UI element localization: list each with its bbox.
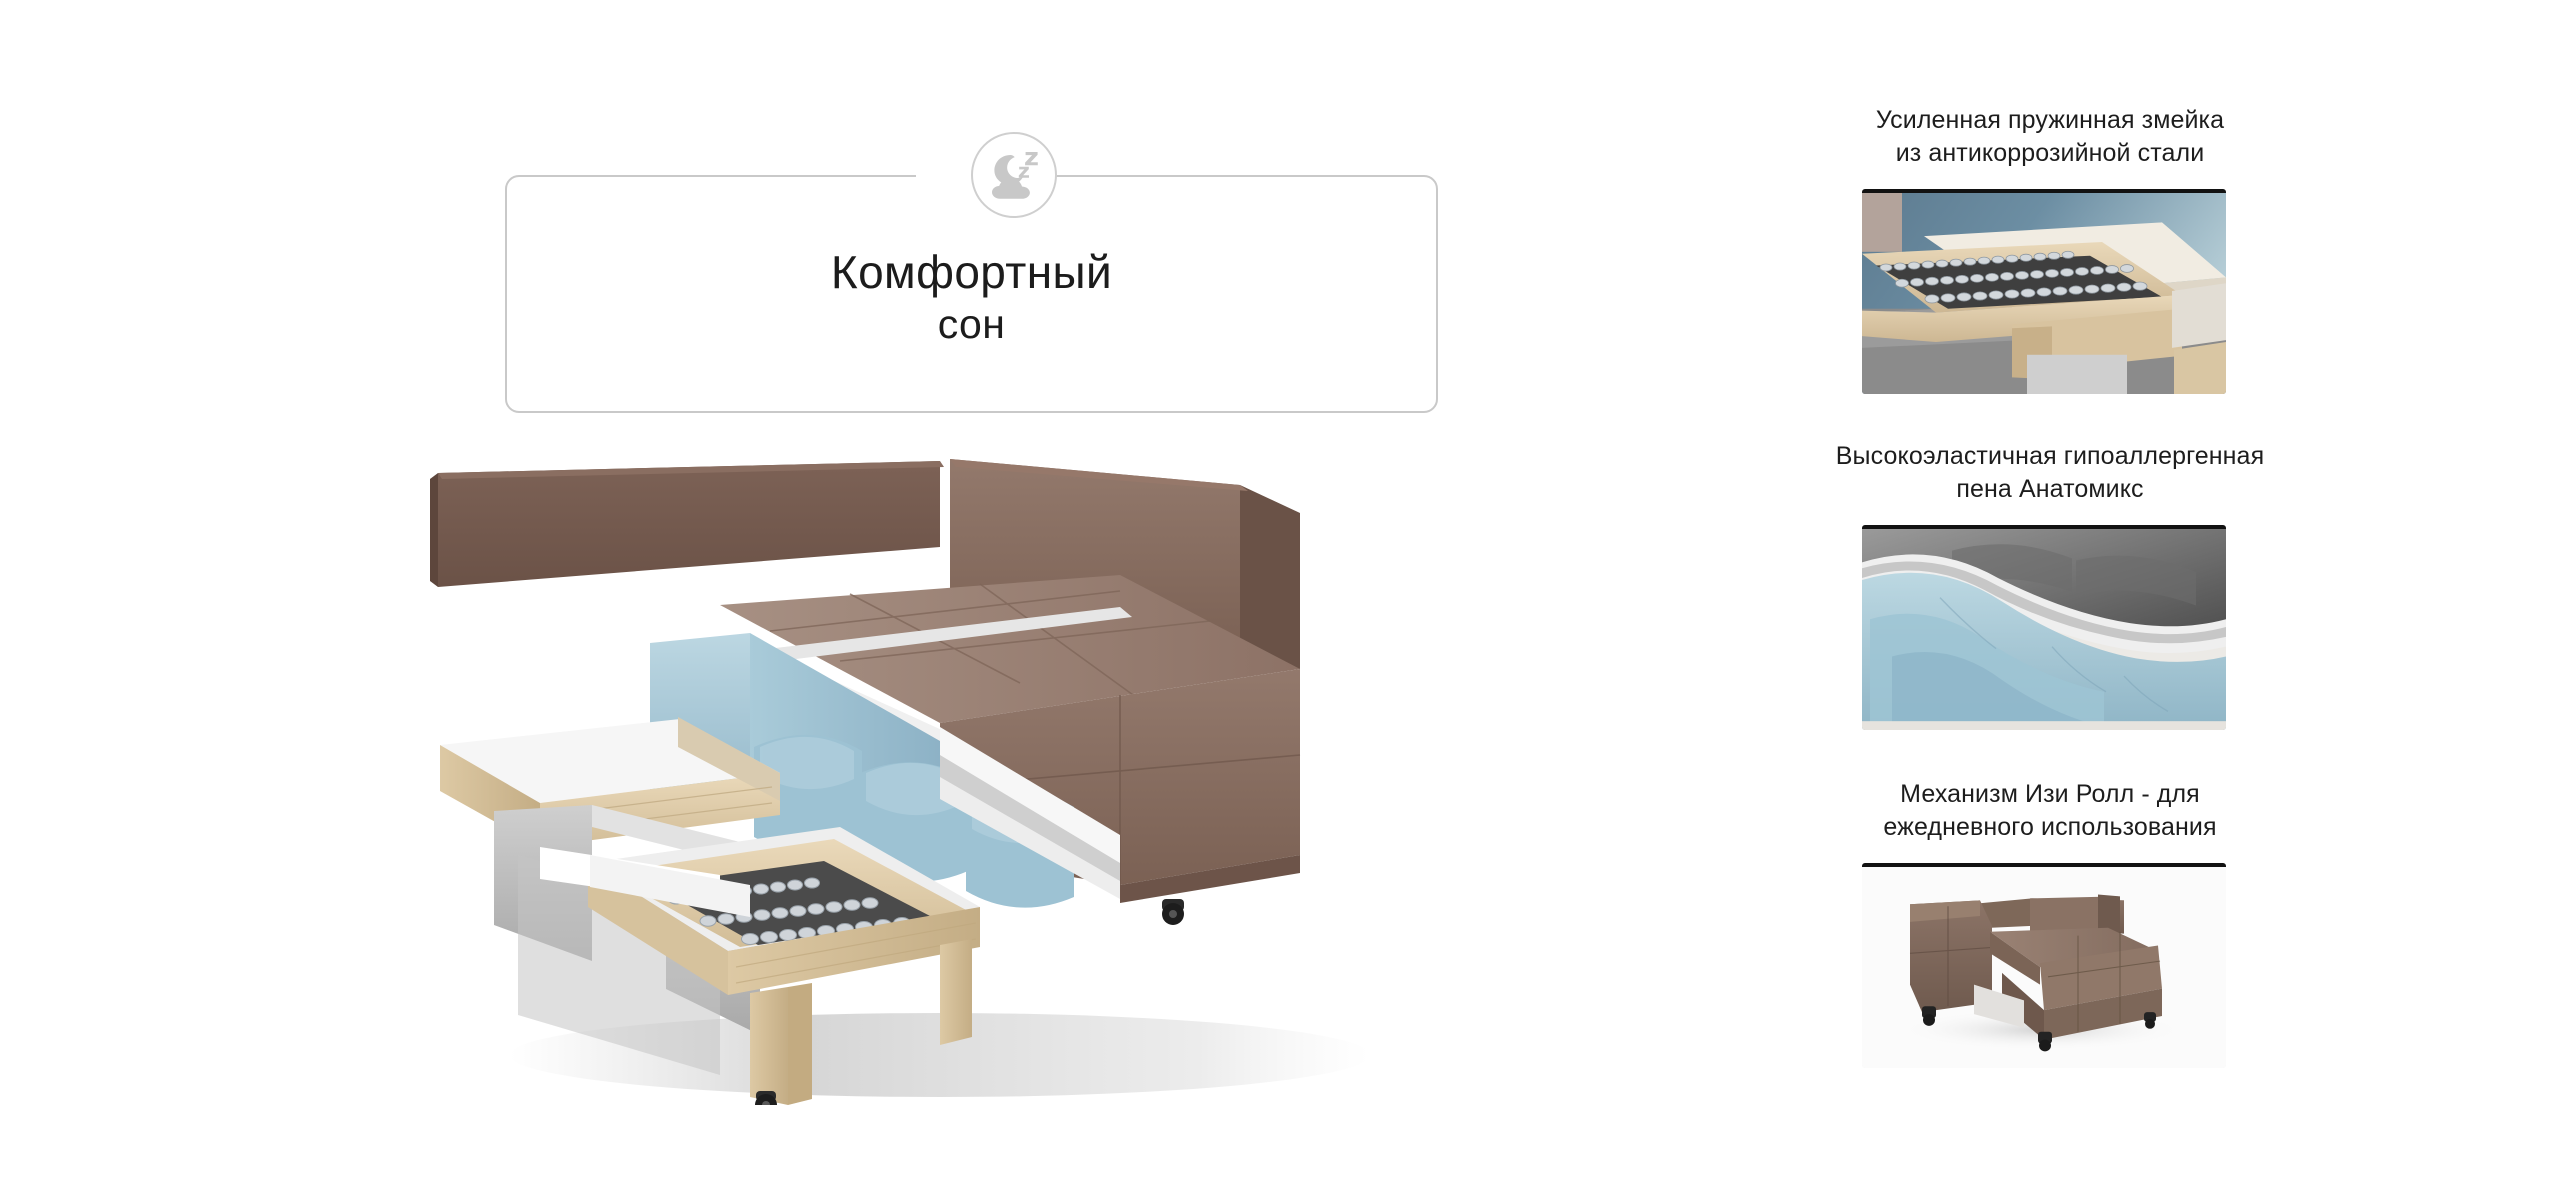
sleep-moon-cloud-icon — [986, 149, 1042, 201]
feature-caption: Усиленная пружинная змейка из антикорроз… — [1800, 104, 2300, 171]
page-title-line-1: Комфортный — [507, 245, 1436, 299]
caster-wheel-front — [755, 1091, 777, 1105]
title-card: Комфортный сон — [505, 175, 1438, 413]
slide-root: Комфортный сон sleep-moon-cloud-icon — [0, 0, 2560, 1188]
caster-wheel-right — [1162, 899, 1184, 925]
hero-section: Комфортный сон sleep-moon-cloud-icon — [0, 0, 1700, 1188]
feature-item-anatomix-foam: Высокоэластичная гипоаллергенная пена Ан… — [1800, 440, 2300, 730]
feature-caption-line-2: пена Анатомикс — [1800, 473, 2300, 506]
backrest-slab — [430, 461, 944, 587]
feature-caption: Механизм Изи Ролл - для ежедневного испо… — [1800, 778, 2300, 845]
feature-caption-line-2: ежедневного использования — [1800, 811, 2300, 844]
feature-item-easy-roll: Механизм Изи Ролл - для ежедневного испо… — [1800, 778, 2300, 1068]
feature-caption-line-1: Усиленная пружинная змейка — [1800, 104, 2300, 137]
spring-serpentine-photo[interactable]: Деревянный каркас с металлической пружин… — [1862, 189, 2226, 394]
feature-item-spring-serpentine: Усиленная пружинная змейка из антикорроз… — [1800, 104, 2300, 394]
feature-caption: Высокоэластичная гипоаллергенная пена Ан… — [1800, 440, 2300, 507]
sofa-cutaway-illustration: Разрез дивана: каркас, пружинная змейка,… — [420, 455, 1520, 1105]
feature-caption-line-1: Механизм Изи Ролл - для — [1800, 778, 2300, 811]
page-title-line-2: сон — [507, 299, 1436, 350]
easy-roll-mechanism-photo[interactable]: Коричневое кресло-кровать с механизмом И… — [1862, 863, 2226, 1068]
feature-list: Усиленная пружинная змейка из антикорроз… — [1800, 0, 2300, 1188]
feature-caption-line-1: Высокоэластичная гипоаллергенная — [1800, 440, 2300, 473]
anatomix-foam-photo[interactable]: Голубая пена Анатомикс в разрезе под сер… — [1862, 525, 2226, 730]
sleep-badge: sleep-moon-cloud-icon — [971, 132, 1057, 218]
title-text-wrap: Комфортный сон — [507, 245, 1436, 351]
feature-caption-line-2: из антикоррозийной стали — [1800, 137, 2300, 170]
